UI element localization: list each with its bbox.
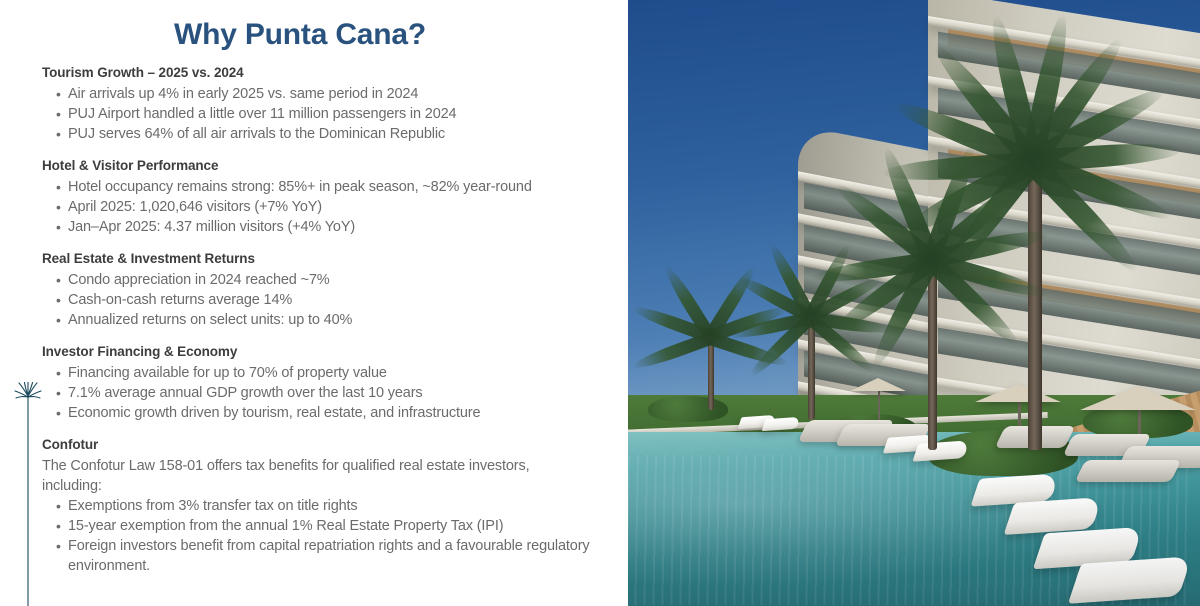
bullet-list: Financing available for up to 70% of pro… <box>42 363 602 423</box>
bullet-list: Exemptions from 3% transfer tax on title… <box>42 496 602 576</box>
slide: Why Punta Cana? Tourism Growth – 2025 vs… <box>0 0 1200 606</box>
list-item: Jan–Apr 2025: 4.37 million visitors (+4%… <box>42 217 602 237</box>
bullet-list: Hotel occupancy remains strong: 85%+ in … <box>42 177 602 237</box>
list-item: Cash-on-cash returns average 14% <box>42 290 602 310</box>
section-heading: Tourism Growth – 2025 vs. 2024 <box>42 64 602 82</box>
section-tourism-growth: Tourism Growth – 2025 vs. 2024 Air arriv… <box>42 64 602 144</box>
section-heading: Hotel & Visitor Performance <box>42 157 602 175</box>
photo-overlay <box>628 0 1200 606</box>
section-heading: Confotur <box>42 436 602 454</box>
list-item: PUJ Airport handled a little over 11 mil… <box>42 104 602 124</box>
section-investor-financing-economy: Investor Financing & Economy Financing a… <box>42 343 602 423</box>
list-item: Exemptions from 3% transfer tax on title… <box>42 496 602 516</box>
section-heading: Investor Financing & Economy <box>42 343 602 361</box>
section-intro-text: The Confotur Law 158-01 offers tax benef… <box>42 456 562 496</box>
list-item: 15-year exemption from the annual 1% Rea… <box>42 516 602 536</box>
section-hotel-visitor-performance: Hotel & Visitor Performance Hotel occupa… <box>42 157 602 237</box>
sections-container: Tourism Growth – 2025 vs. 2024 Air arriv… <box>42 64 602 576</box>
list-item: Air arrivals up 4% in early 2025 vs. sam… <box>42 84 602 104</box>
list-item: Economic growth driven by tourism, real … <box>42 403 602 423</box>
list-item: Financing available for up to 70% of pro… <box>42 363 602 383</box>
list-item: April 2025: 1,020,646 visitors (+7% YoY) <box>42 197 602 217</box>
list-item: Annualized returns on select units: up t… <box>42 310 602 330</box>
content-panel: Why Punta Cana? Tourism Growth – 2025 vs… <box>0 0 628 606</box>
bullet-list: Condo appreciation in 2024 reached ~7% C… <box>42 270 602 330</box>
section-confotur: Confotur The Confotur Law 158-01 offers … <box>42 436 602 576</box>
section-heading: Real Estate & Investment Returns <box>42 250 602 268</box>
list-item: 7.1% average annual GDP growth over the … <box>42 383 602 403</box>
list-item: Foreign investors benefit from capital r… <box>42 536 602 576</box>
section-real-estate-investment-returns: Real Estate & Investment Returns Condo a… <box>42 250 602 330</box>
resort-photo <box>628 0 1200 606</box>
list-item: Hotel occupancy remains strong: 85%+ in … <box>42 177 602 197</box>
page-title: Why Punta Cana? <box>0 18 600 52</box>
bullet-list: Air arrivals up 4% in early 2025 vs. sam… <box>42 84 602 144</box>
list-item: PUJ serves 64% of all air arrivals to th… <box>42 124 602 144</box>
list-item: Condo appreciation in 2024 reached ~7% <box>42 270 602 290</box>
